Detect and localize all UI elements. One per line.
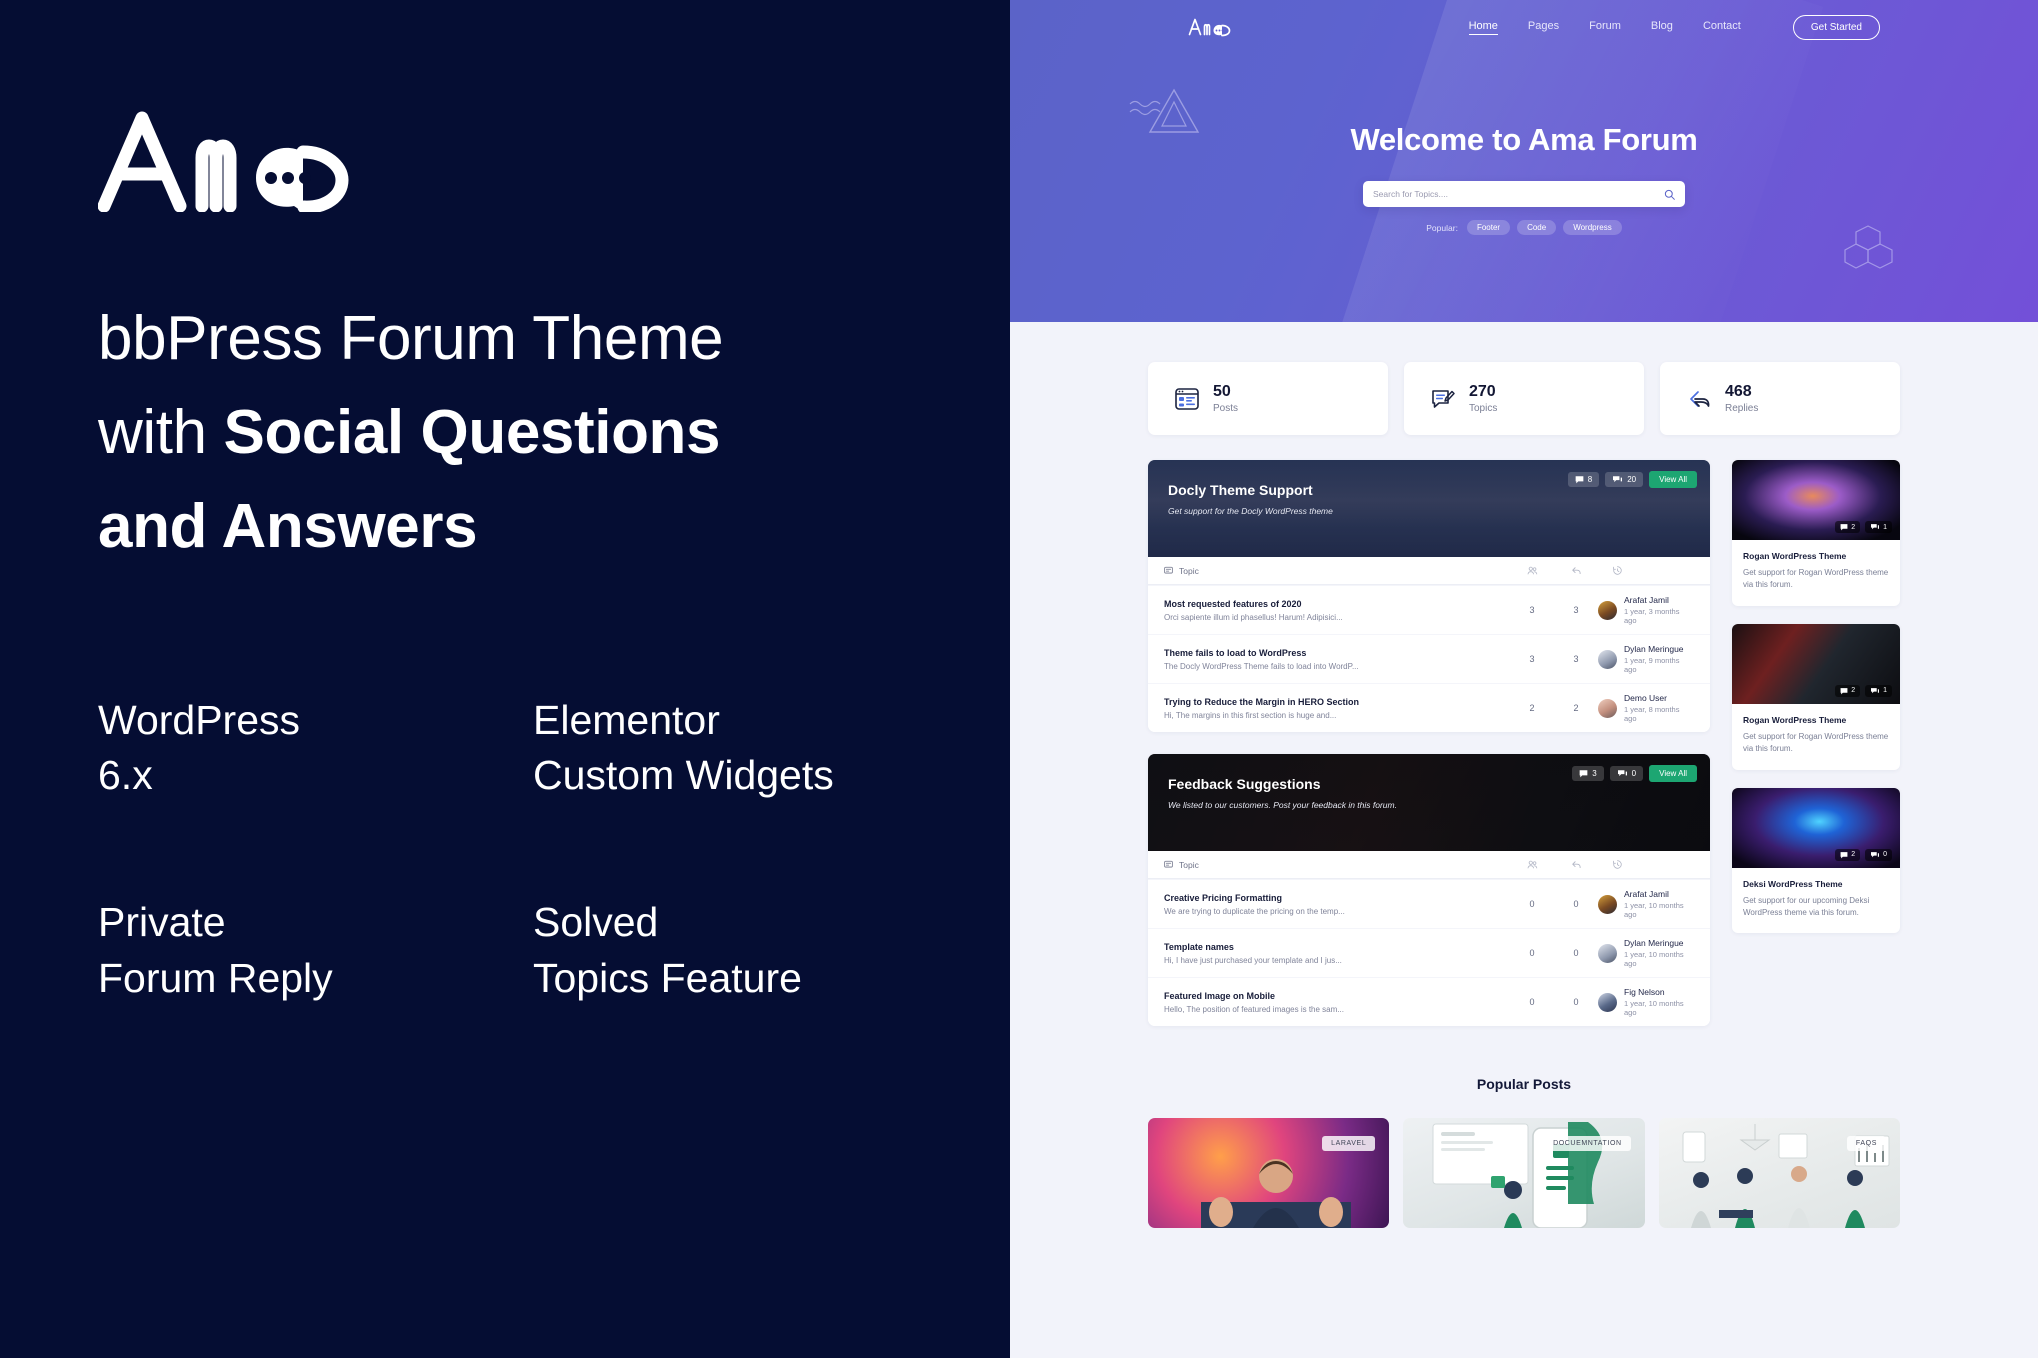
promo-feature-list: WordPress 6.x Elementor Custom Widgets P… — [98, 693, 978, 1006]
avatar — [1598, 944, 1617, 963]
stat-label-posts: Posts — [1213, 403, 1238, 414]
view-all-button[interactable]: View All — [1649, 765, 1697, 782]
author-time: 1 year, 10 months ago — [1624, 901, 1694, 919]
topic-main: Creative Pricing Formatting We are tryin… — [1164, 893, 1510, 916]
table-row[interactable]: Trying to Reduce the Margin in HERO Sect… — [1148, 683, 1710, 732]
promo-page: bbPress Forum Theme with Social Question… — [0, 0, 2038, 1358]
topic-column-label: Topic — [1179, 860, 1199, 870]
forum-column: 8 20 View All Docly Theme Support Get su… — [1148, 460, 1710, 1048]
forum-banner: 8 20 View All Docly Theme Support Get su… — [1148, 460, 1710, 557]
get-started-button[interactable]: Get Started — [1793, 15, 1880, 40]
topic-column-header: Topic — [1164, 860, 1510, 870]
popular-label: Popular: — [1426, 223, 1458, 233]
popular-posts-heading: Popular Posts — [1148, 1076, 1900, 1092]
author-name[interactable]: Arafat Jamil — [1624, 889, 1694, 899]
side-forum-desc: Get support for our upcoming Deksi WordP… — [1743, 895, 1889, 920]
topic-title[interactable]: Theme fails to load to WordPress — [1164, 648, 1510, 658]
author-time: 1 year, 8 months ago — [1624, 705, 1694, 723]
topic-main: Most requested features of 2020 Orci sap… — [1164, 599, 1510, 622]
nav-links: Home Pages Forum Blog Contact Get Starte… — [1469, 15, 1880, 40]
topic-title[interactable]: Creative Pricing Formatting — [1164, 893, 1510, 903]
stat-value-topics: 270 — [1469, 383, 1497, 401]
topic-title[interactable]: Featured Image on Mobile — [1164, 991, 1510, 1001]
forum-replies-count: 20 — [1627, 475, 1636, 484]
topic-main: Trying to Reduce the Margin in HERO Sect… — [1164, 697, 1510, 720]
view-all-button[interactable]: View All — [1649, 471, 1697, 488]
promo-headline: bbPress Forum Theme with Social Question… — [98, 292, 958, 575]
clock-history-icon — [1598, 859, 1694, 870]
side-replies-count: 1 — [1883, 687, 1887, 694]
table-row[interactable]: Featured Image on Mobile Hello, The posi… — [1148, 977, 1710, 1026]
topic-excerpt: Hi, I have just purchased your template … — [1164, 956, 1510, 965]
avatar — [1598, 699, 1617, 718]
side-forum-thumbnail: 2 1 — [1732, 460, 1900, 540]
forum-banner-actions: 8 20 View All — [1568, 471, 1697, 488]
forum-subtitle: Get support for the Docly WordPress them… — [1168, 506, 1690, 516]
topic-replies: 0 — [1554, 997, 1598, 1007]
stats-row: 50 Posts 270 To — [1148, 362, 1900, 435]
search-input[interactable] — [1373, 189, 1664, 199]
topic-main: Featured Image on Mobile Hello, The posi… — [1164, 991, 1510, 1014]
forum-topics-count: 8 — [1588, 475, 1592, 484]
nav-link-contact[interactable]: Contact — [1703, 20, 1741, 35]
site-preview: Home Pages Forum Blog Contact Get Starte… — [1010, 0, 2038, 1358]
side-forum-badges: 2 1 — [1835, 521, 1892, 533]
table-row[interactable]: Template names Hi, I have just purchased… — [1148, 928, 1710, 977]
hero-title: Welcome to Ama Forum — [1010, 122, 2038, 158]
voices-icon — [1510, 565, 1554, 576]
table-row[interactable]: Creative Pricing Formatting We are tryin… — [1148, 879, 1710, 928]
table-row[interactable]: Theme fails to load to WordPress The Doc… — [1148, 634, 1710, 683]
side-replies-count: 0 — [1883, 851, 1887, 858]
ama-logo — [98, 100, 1010, 220]
author-name[interactable]: Demo User — [1624, 693, 1694, 703]
topic-voices: 0 — [1510, 997, 1554, 1007]
topic-table-header: Topic — [1148, 851, 1710, 879]
topic-title[interactable]: Most requested features of 2020 — [1164, 599, 1510, 609]
topic-excerpt: Hello, The position of featured images i… — [1164, 1005, 1510, 1014]
stat-card-posts: 50 Posts — [1148, 362, 1388, 435]
topic-replies: 2 — [1554, 703, 1598, 713]
forum-banner-actions: 3 0 View All — [1572, 765, 1697, 782]
side-topics-badge: 2 — [1835, 849, 1860, 861]
table-row[interactable]: Most requested features of 2020 Orci sap… — [1148, 585, 1710, 634]
topic-author: Fig Nelson 1 year, 10 months ago — [1598, 987, 1694, 1017]
posts-layout-icon — [1174, 386, 1200, 412]
side-topics-badge: 2 — [1835, 685, 1860, 697]
side-forum-desc: Get support for Rogan WordPress theme vi… — [1743, 567, 1889, 592]
replies-icon — [1554, 565, 1598, 576]
search-icon[interactable] — [1664, 189, 1675, 200]
forum-card: 8 20 View All Docly Theme Support Get su… — [1148, 460, 1710, 732]
side-forum-card[interactable]: 2 1 Rogan WordPress Theme Get support fo… — [1732, 460, 1900, 606]
replies-icon — [1554, 859, 1598, 870]
forum-topics-badge: 3 — [1572, 766, 1603, 781]
topic-voices: 0 — [1510, 899, 1554, 909]
post-tag: DOCUEMNTATION — [1544, 1136, 1631, 1151]
author-name[interactable]: Arafat Jamil — [1624, 595, 1694, 605]
topic-replies: 0 — [1554, 899, 1598, 909]
clock-history-icon — [1598, 565, 1694, 576]
preview-content: 50 Posts 270 To — [1010, 362, 2038, 1228]
popular-post-card[interactable]: LARAVEL — [1148, 1118, 1389, 1228]
topic-column-label: Topic — [1179, 566, 1199, 576]
topic-voices: 0 — [1510, 948, 1554, 958]
author-time: 1 year, 10 months ago — [1624, 950, 1694, 968]
side-topics-count: 2 — [1851, 851, 1855, 858]
side-replies-badge: 1 — [1865, 521, 1892, 533]
topic-main: Theme fails to load to WordPress The Doc… — [1164, 648, 1510, 671]
avatar — [1598, 895, 1617, 914]
author-time: 1 year, 9 months ago — [1624, 656, 1694, 674]
feature-item: Private Forum Reply — [98, 895, 533, 1006]
side-forum-badges: 2 0 — [1835, 849, 1892, 861]
side-replies-badge: 1 — [1865, 685, 1892, 697]
topic-replies: 3 — [1554, 654, 1598, 664]
hero-search-bar[interactable] — [1363, 181, 1685, 207]
avatar — [1598, 601, 1617, 620]
hero-body: Welcome to Ama Forum Popular: Footer Cod… — [1010, 54, 2038, 235]
side-forum-card[interactable]: 2 0 Deksi WordPress Theme Get support fo… — [1732, 788, 1900, 934]
headline-line-3-strong: and Answers — [98, 492, 477, 561]
replies-arrow-icon — [1686, 386, 1712, 412]
post-tag: LARAVEL — [1322, 1136, 1375, 1151]
topic-excerpt: We are trying to duplicate the pricing o… — [1164, 907, 1510, 916]
side-forum-title[interactable]: Rogan WordPress Theme — [1743, 715, 1889, 725]
headline-line-2-strong: Social Questions — [223, 398, 720, 467]
author-meta: Arafat Jamil 1 year, 10 months ago — [1624, 889, 1694, 919]
side-forum-card[interactable]: 2 1 Rogan WordPress Theme Get support fo… — [1732, 624, 1900, 770]
topic-replies: 0 — [1554, 948, 1598, 958]
popular-posts-grid: LARAVEL — [1148, 1118, 1900, 1228]
side-topics-badge: 2 — [1835, 521, 1860, 533]
nav-logo[interactable] — [1188, 17, 1232, 37]
author-meta: Arafat Jamil 1 year, 3 months ago — [1624, 595, 1694, 625]
nav-link-home[interactable]: Home — [1469, 20, 1498, 35]
topic-main: Template names Hi, I have just purchased… — [1164, 942, 1510, 965]
stat-text-posts: 50 Posts — [1213, 383, 1238, 413]
feature-item: WordPress 6.x — [98, 693, 533, 804]
stat-label-topics: Topics — [1469, 403, 1497, 414]
forum-replies-badge: 0 — [1610, 766, 1643, 781]
forum-sidebar: 2 1 Rogan WordPress Theme Get support fo… — [1732, 460, 1900, 1048]
side-forum-body: Rogan WordPress Theme Get support for Ro… — [1732, 540, 1900, 606]
side-forum-body: Deksi WordPress Theme Get support for ou… — [1732, 868, 1900, 934]
author-name[interactable]: Fig Nelson — [1624, 987, 1694, 997]
author-name[interactable]: Dylan Meringue — [1624, 644, 1694, 654]
forum-banner: 3 0 View All Feedback Suggestions We lis… — [1148, 754, 1710, 851]
forum-replies-count: 0 — [1632, 769, 1636, 778]
side-replies-count: 1 — [1883, 524, 1887, 531]
topic-title[interactable]: Template names — [1164, 942, 1510, 952]
main-navbar: Home Pages Forum Blog Contact Get Starte… — [1010, 0, 2038, 54]
topic-voices: 3 — [1510, 654, 1554, 664]
topic-voices: 2 — [1510, 703, 1554, 713]
side-forum-title[interactable]: Deksi WordPress Theme — [1743, 879, 1889, 889]
topic-author: Arafat Jamil 1 year, 3 months ago — [1598, 595, 1694, 625]
side-forum-badges: 2 1 — [1835, 685, 1892, 697]
popular-tags: Popular: Footer Code Wordpress — [1010, 220, 2038, 235]
author-name[interactable]: Dylan Meringue — [1624, 938, 1694, 948]
hero-section: Home Pages Forum Blog Contact Get Starte… — [1010, 0, 2038, 322]
forum-subtitle: We listed to our customers. Post your fe… — [1168, 800, 1690, 810]
popular-tag-code[interactable]: Code — [1517, 220, 1556, 235]
topic-replies: 3 — [1554, 605, 1598, 615]
popular-tag-footer[interactable]: Footer — [1467, 220, 1510, 235]
popular-post-card[interactable]: FAQS — [1659, 1118, 1900, 1228]
voices-icon — [1510, 859, 1554, 870]
author-meta: Dylan Meringue 1 year, 10 months ago — [1624, 938, 1694, 968]
headline-line-1: bbPress Forum Theme — [98, 304, 723, 373]
popular-tag-wordpress[interactable]: Wordpress — [1563, 220, 1622, 235]
popular-post-card[interactable]: DOCUEMNTATION — [1403, 1118, 1644, 1228]
topic-author: Dylan Meringue 1 year, 9 months ago — [1598, 644, 1694, 674]
side-forum-thumbnail: 2 1 — [1732, 624, 1900, 704]
side-forum-thumbnail: 2 0 — [1732, 788, 1900, 868]
stat-text-replies: 468 Replies — [1725, 383, 1758, 413]
topic-author: Arafat Jamil 1 year, 10 months ago — [1598, 889, 1694, 919]
author-meta: Demo User 1 year, 8 months ago — [1624, 693, 1694, 723]
feature-item: Elementor Custom Widgets — [533, 693, 978, 804]
forum-topics-count: 3 — [1592, 769, 1596, 778]
forum-topics-badge: 8 — [1568, 472, 1599, 487]
topic-column-header: Topic — [1164, 566, 1510, 576]
headline-line-2-prefix: with — [98, 398, 223, 467]
author-meta: Fig Nelson 1 year, 10 months ago — [1624, 987, 1694, 1017]
side-forum-body: Rogan WordPress Theme Get support for Ro… — [1732, 704, 1900, 770]
popular-posts-section: Popular Posts LARAVEL — [1148, 1076, 1900, 1228]
topic-excerpt: Orci sapiente illum id phasellus! Harum!… — [1164, 613, 1510, 622]
stat-value-posts: 50 — [1213, 383, 1238, 401]
nav-link-forum[interactable]: Forum — [1589, 20, 1621, 35]
side-forum-title[interactable]: Rogan WordPress Theme — [1743, 551, 1889, 561]
forum-replies-badge: 20 — [1605, 472, 1643, 487]
feature-item: Solved Topics Feature — [533, 895, 978, 1006]
author-time: 1 year, 10 months ago — [1624, 999, 1694, 1017]
side-replies-badge: 0 — [1865, 849, 1892, 861]
side-topics-count: 2 — [1851, 524, 1855, 531]
nav-link-blog[interactable]: Blog — [1651, 20, 1673, 35]
forum-layout-grid: 8 20 View All Docly Theme Support Get su… — [1148, 460, 1900, 1048]
avatar — [1598, 993, 1617, 1012]
topic-author: Dylan Meringue 1 year, 10 months ago — [1598, 938, 1694, 968]
stat-card-replies: 468 Replies — [1660, 362, 1900, 435]
side-topics-count: 2 — [1851, 687, 1855, 694]
stat-label-replies: Replies — [1725, 403, 1758, 414]
forum-card: 3 0 View All Feedback Suggestions We lis… — [1148, 754, 1710, 1026]
stat-value-replies: 468 — [1725, 383, 1758, 401]
author-meta: Dylan Meringue 1 year, 9 months ago — [1624, 644, 1694, 674]
post-tag: FAQS — [1847, 1136, 1886, 1151]
author-time: 1 year, 3 months ago — [1624, 607, 1694, 625]
topic-author: Demo User 1 year, 8 months ago — [1598, 693, 1694, 723]
topic-table-header: Topic — [1148, 557, 1710, 585]
stat-card-topics: 270 Topics — [1404, 362, 1644, 435]
nav-link-pages[interactable]: Pages — [1528, 20, 1559, 35]
stat-text-topics: 270 Topics — [1469, 383, 1497, 413]
topic-voices: 3 — [1510, 605, 1554, 615]
promo-panel: bbPress Forum Theme with Social Question… — [0, 0, 1010, 1358]
avatar — [1598, 650, 1617, 669]
topic-excerpt: The Docly WordPress Theme fails to load … — [1164, 662, 1510, 671]
side-forum-desc: Get support for Rogan WordPress theme vi… — [1743, 731, 1889, 756]
topic-title[interactable]: Trying to Reduce the Margin in HERO Sect… — [1164, 697, 1510, 707]
topics-edit-icon — [1430, 386, 1456, 412]
topic-excerpt: Hi, The margins in this first section is… — [1164, 711, 1510, 720]
